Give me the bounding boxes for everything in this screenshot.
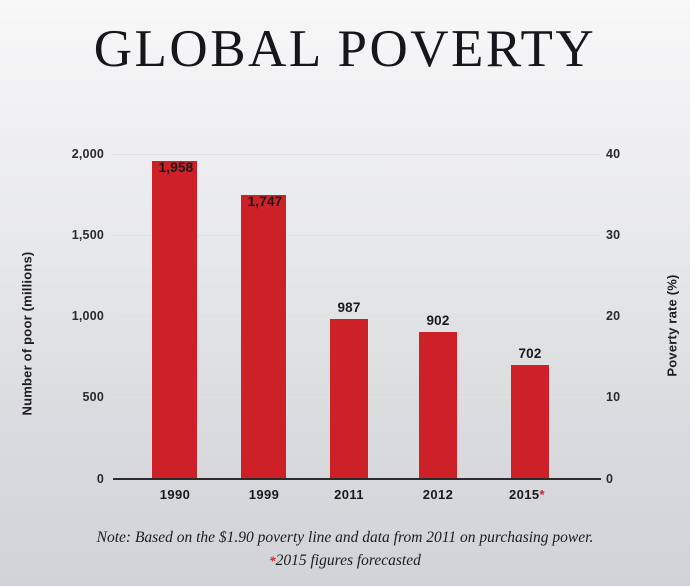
forecast-asterisk-icon: *	[540, 487, 545, 502]
y-tick-right-0: 0	[606, 472, 648, 486]
x-axis-line	[113, 478, 601, 480]
y-tick-right-10: 10	[606, 390, 648, 404]
bar-value-1990: 1,958	[111, 160, 241, 175]
bar-value-1999: 1,747	[200, 194, 330, 209]
y-axis-left-ticks: 2,000 1,500 1,000 500 0	[36, 0, 104, 586]
y-axis-right-title: Poverty rate (%)	[665, 211, 680, 441]
y-tick-right-30: 30	[606, 228, 648, 242]
bar-2012	[419, 332, 457, 479]
y-tick-left-0: 0	[42, 472, 104, 486]
bar-1990	[152, 161, 197, 479]
y-tick-left-2000: 2,000	[42, 147, 104, 161]
gridline-2000	[113, 154, 600, 155]
y-axis-left-title: Number of poor (millions)	[20, 219, 35, 449]
footnote-forecast-text: 2015 figures forecasted	[276, 552, 421, 569]
x-tick-2015-label: 2015	[509, 487, 540, 502]
bar-2011	[330, 319, 368, 479]
y-tick-left-1000: 1,000	[42, 309, 104, 323]
y-tick-right-20: 20	[606, 309, 648, 323]
plot-area	[113, 154, 600, 479]
bar-1999	[241, 195, 286, 479]
y-tick-left-1500: 1,500	[42, 228, 104, 242]
x-tick-2015: 2015*	[462, 487, 592, 502]
footnote-note: Note: Based on the $1.90 poverty line an…	[0, 529, 690, 547]
y-tick-left-500: 500	[42, 390, 104, 404]
chart-page: GLOBAL POVERTY 2,000 1,500 1,000 500 0 4…	[0, 0, 690, 586]
bar-value-2015: 702	[465, 346, 595, 361]
bar-2015	[511, 365, 549, 479]
footnote-forecast: *2015 figures forecasted	[0, 552, 690, 570]
y-axis-right-ticks: 40 30 20 10 0	[606, 0, 666, 586]
y-tick-right-40: 40	[606, 147, 648, 161]
bar-value-2012: 902	[373, 313, 503, 328]
